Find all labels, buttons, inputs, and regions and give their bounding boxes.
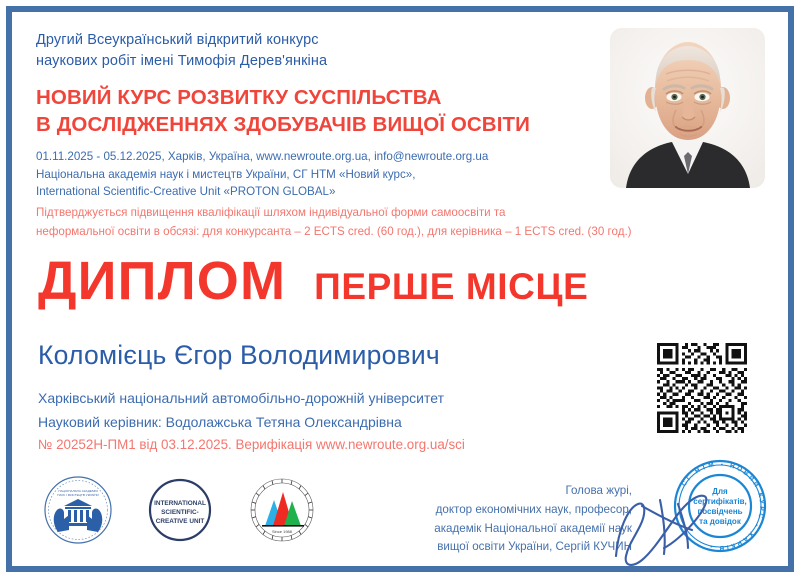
- partner-logos: НАЦІОНАЛЬНА АКАДЕМІЯ НАУК І МИСТЕЦТВ УКР…: [36, 472, 324, 548]
- mountains-logo-caption: Since 1988: [272, 529, 293, 534]
- jury-line2: доктор економічних наук, професор,: [370, 501, 632, 520]
- iscu-text-line3: CREATIVE UNIT: [156, 518, 205, 525]
- meta-organizer-1: Національна академія наук і мистецтв Укр…: [36, 166, 488, 184]
- seal-inner-line1: Для: [712, 487, 728, 496]
- seal-inner-line4: та довідок: [699, 517, 742, 526]
- jury-line4: вищої освіти України, Сергій КУЧИН: [370, 538, 632, 557]
- competition-title-line2: В ДОСЛІДЖЕННЯХ ЗДОБУВАЧІВ ВИЩОЇ ОСВІТИ: [36, 111, 530, 138]
- iscu-logo-icon: INTERNATIONAL SCIENTIFIC- CREATIVE UNIT: [138, 472, 222, 548]
- portrait-photo: [610, 28, 765, 188]
- meta-organizer-2: International Scientific-Creative Unit «…: [36, 183, 488, 201]
- nanu-ring-text-line2: НАУК І МИСТЕЦТВ УКРАЇНИ: [57, 493, 99, 497]
- award-line: ДИПЛОМ ПЕРШЕ МІСЦЕ: [38, 254, 588, 308]
- competition-subtitle-line1: Другий Всеукраїнський відкритий конкурс: [36, 30, 327, 51]
- signature-icon: [616, 496, 706, 565]
- mountains-logo: Since 1988: [240, 472, 324, 548]
- meta-dates-location: 01.11.2025 - 05.12.2025, Харків, Україна…: [36, 148, 488, 166]
- official-seal-and-signature: СГ НТМ - НОВИЙ КУРС - ХАРКІВ - Для серти…: [608, 448, 788, 576]
- document-type-label: ДИПЛОМ: [38, 254, 286, 308]
- registration-number: № 20252Н-ПМ1 від 03.12.2025. Верифікація…: [38, 437, 465, 452]
- nanu-logo: НАЦІОНАЛЬНА АКАДЕМІЯ НАУК І МИСТЕЦТВ УКР…: [36, 472, 120, 548]
- mountains-logo-icon: Since 1988: [240, 472, 324, 548]
- award-place-label: ПЕРШЕ МІСЦЕ: [314, 268, 588, 305]
- verification-qr-code[interactable]: [657, 343, 747, 433]
- iscu-logo: INTERNATIONAL SCIENTIFIC- CREATIVE UNIT: [138, 472, 222, 548]
- recipient-supervisor: Науковий керівник: Водолажська Тетяна Ол…: [38, 410, 444, 434]
- nanu-logo-icon: НАЦІОНАЛЬНА АКАДЕМІЯ НАУК І МИСТЕЦТВ УКР…: [36, 472, 120, 548]
- recipient-institution: Харківський національний автомобільно-до…: [38, 386, 444, 410]
- iscu-text-line2: SCIENTIFIC-: [161, 509, 199, 516]
- qr-code-image: [657, 343, 747, 433]
- qualification-note: Підтверджується підвищення кваліфікації …: [36, 204, 632, 242]
- qualification-note-line1: Підтверджується підвищення кваліфікації …: [36, 204, 632, 223]
- seal-icon: СГ НТМ - НОВИЙ КУРС - ХАРКІВ - Для серти…: [608, 448, 788, 576]
- iscu-text-line1: INTERNATIONAL: [154, 500, 206, 507]
- qualification-note-line2: неформальної освіти в обсязі: для конкур…: [36, 223, 632, 242]
- certificate-content: Другий Всеукраїнський відкритий конкурс …: [0, 0, 800, 582]
- competition-subtitle-line2: наукових робіт імені Тимофія Дерев'янкін…: [36, 51, 327, 72]
- jury-line1: Голова журі,: [370, 482, 632, 501]
- jury-chairman-block: Голова журі, доктор економічних наук, пр…: [370, 482, 632, 557]
- competition-meta: 01.11.2025 - 05.12.2025, Харків, Україна…: [36, 148, 488, 201]
- diploma-certificate: Другий Всеукраїнський відкритий конкурс …: [0, 0, 800, 582]
- recipient-name: Коломієць Єгор Володимирович: [38, 340, 440, 371]
- recipient-details: Харківський національний автомобільно-до…: [38, 386, 444, 434]
- competition-subtitle: Другий Всеукраїнський відкритий конкурс …: [36, 30, 327, 72]
- portrait-photo-image: [610, 28, 765, 188]
- competition-title-line1: НОВИЙ КУРС РОЗВИТКУ СУСПІЛЬСТВА: [36, 84, 530, 111]
- competition-title: НОВИЙ КУРС РОЗВИТКУ СУСПІЛЬСТВА В ДОСЛІД…: [36, 84, 530, 138]
- jury-line3: академік Національної академії наук: [370, 520, 632, 539]
- seal-inner-line2: сертифікатів,: [693, 497, 746, 506]
